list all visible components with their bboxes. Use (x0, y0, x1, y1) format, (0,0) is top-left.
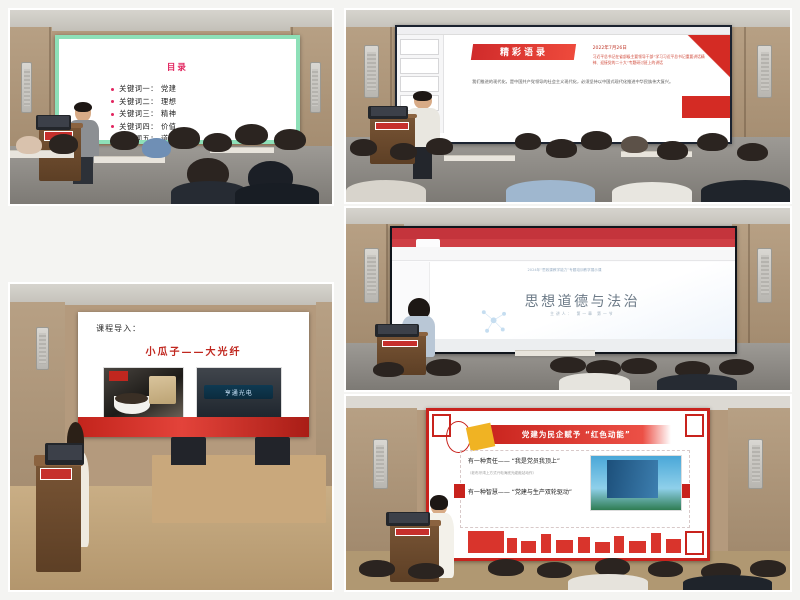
slide-date: 2022年7月26日 (593, 45, 627, 51)
classroom-scene: 党建为民企赋予 “红色动能” 有一种责任—— “我是党员我顶上” （老布牙湾上方… (346, 396, 790, 590)
red-wave-decoration (78, 417, 310, 437)
ceiling (10, 10, 332, 31)
slide-subtitle: 习近平总书记在省部级主要领导干部“学习习近平总书记重要讲话精神、迎接党的二十大”… (593, 54, 708, 66)
audience-head (546, 139, 577, 158)
slide-title-ribbon: 精彩语录 (471, 44, 576, 60)
slide-body-text: 我们推进的现代化，是中国共产党领导的社会主义现代化，必须坚持以中国式现代化推进中… (472, 78, 684, 85)
slide-lead-in-text: 课程导入： (96, 323, 141, 334)
audience-shoulders (657, 374, 737, 390)
lecture-photo-toc: 目录 关键词一： 党建 关键词二： 理想 关键词三： 精神 (8, 8, 334, 206)
audience-head (274, 129, 306, 150)
slide-thumbnail[interactable] (400, 58, 438, 74)
classroom-scene: 精彩语录 2022年7月26日 习近平总书记在省部级主要领导干部“学习习近平总书… (346, 10, 790, 202)
classroom-scene: 2024年“思政课教学能力”专题培训教学展示课 思想道德与法治 主讲人： 第一章… (346, 208, 790, 390)
wall-speaker-icon (757, 45, 772, 99)
podium-name-plate (395, 528, 430, 536)
paper-bag-graphic (149, 376, 176, 404)
audience-head (49, 134, 78, 154)
wps-active-tab[interactable] (416, 239, 440, 246)
audience-head (203, 133, 232, 153)
laptop (386, 512, 430, 526)
audience (346, 118, 790, 202)
slide-title: 党建为民企赋予 “红色动能” (522, 429, 631, 440)
audience-head (16, 136, 42, 154)
corner-pattern-icon (685, 414, 704, 438)
presenter-hair (74, 102, 92, 113)
slide-party-building: 党建为民企赋予 “红色动能” 有一种责任—— “我是党员我顶上” （老布牙湾上方… (429, 411, 707, 558)
audience-shoulders (568, 574, 648, 590)
lecture-photo-ideology: 2024年“思政课教学能力”专题培训教学展示课 思想道德与法治 主讲人： 第一章… (344, 206, 792, 392)
audience-head (373, 362, 404, 377)
audience-head (621, 358, 657, 375)
audience-head (550, 357, 586, 374)
audience-head (581, 131, 612, 150)
wall-speaker-icon (748, 439, 763, 489)
bullet-text: 关键词二： 理想 (119, 97, 176, 107)
audience-head (110, 131, 139, 151)
bullet-dot-icon (111, 88, 114, 91)
presenter-hair (430, 495, 448, 510)
slide-ideology: 2024年“思政课教学能力”专题培训教学展示课 思想道德与法治 主讲人： 第一章… (430, 262, 735, 340)
list-item: 关键词一： 党建 (111, 84, 296, 94)
audience-head (235, 124, 267, 145)
lecture-photo-course-intro: 课程导入： 小瓜子——大光纤 亨通光电 (8, 282, 334, 592)
slide-header: 2024年“思政课教学能力”专题培训教学展示课 (528, 268, 602, 273)
presenter-hair (413, 91, 432, 101)
audience-head (648, 561, 684, 577)
slide-course-intro: 课程导入： 小瓜子——大光纤 亨通光电 (78, 312, 310, 437)
list-item: 关键词二： 理想 (111, 97, 296, 107)
audience-shoulders (612, 182, 692, 202)
audience-head (515, 133, 542, 150)
slide-image-factory-sign: 亨通光电 (196, 367, 282, 420)
audience-head (142, 138, 171, 158)
wall-speaker-icon (373, 439, 388, 489)
wall-speaker-icon (21, 62, 32, 112)
slide-image-seeds (103, 367, 184, 420)
app-toolbar[interactable] (397, 27, 730, 35)
audience-head (350, 139, 377, 156)
slide-bullet-1-note: （老布牙湾上方式兴电海底光缆敲站动作） (468, 471, 536, 476)
audience-shoulders (559, 373, 630, 390)
audience-shoulders (683, 575, 772, 590)
classroom-scene: 课程导入： 小瓜子——大光纤 亨通光电 (10, 284, 332, 590)
audience-shoulders (235, 183, 319, 204)
audience-head (359, 560, 395, 577)
wps-office-window: 2024年“思政课教学能力”专题培训教学展示课 思想道德与法治 主讲人： 第一章… (392, 228, 734, 351)
chair (171, 437, 206, 465)
building-graphic (607, 460, 657, 498)
slide-bullet-2: 有一种智慧—— “党建与生产双轮驱动” (468, 487, 572, 496)
wall-speaker-icon (364, 45, 379, 99)
audience-head (408, 563, 444, 579)
audience-head (488, 559, 524, 576)
audience-head (719, 359, 755, 376)
desk (515, 350, 595, 356)
classroom-scene: 目录 关键词一： 党建 关键词二： 理想 关键词三： 精神 (10, 10, 332, 204)
wall-speaker-icon (36, 327, 49, 370)
brand-tag-icon (109, 371, 128, 381)
projection-screen: 课程导入： 小瓜子——大光纤 亨通光电 (78, 312, 310, 437)
wall-speaker-icon (310, 62, 321, 112)
audience-shoulders (346, 180, 426, 202)
audience-head (537, 562, 573, 578)
audience (346, 547, 790, 590)
audience-shoulders (506, 180, 595, 202)
red-square-bullet-icon (454, 484, 465, 497)
photo-collage: 目录 关键词一： 党建 关键词二： 理想 关键词三： 精神 (0, 0, 800, 600)
red-block-decoration (682, 96, 731, 118)
audience-head (426, 138, 453, 155)
audience-head (390, 143, 417, 160)
audience-head (426, 359, 462, 376)
audience (346, 346, 790, 390)
molecule-graphic-icon (454, 304, 533, 337)
audience-head (697, 133, 728, 152)
projection-screen: 党建为民企赋予 “红色动能” 有一种责任—— “我是党员我顶上” （老布牙湾上方… (426, 408, 710, 561)
laptop (375, 324, 419, 337)
wps-tab-bar[interactable] (392, 239, 734, 246)
company-signboard: 亨通光电 (204, 385, 273, 399)
slide-title: 目录 (59, 61, 296, 73)
audience-shoulders (701, 180, 790, 202)
audience-head (168, 127, 200, 148)
slide-title-banner: 党建为民企赋予 “红色动能” (482, 425, 671, 444)
slide-photo-building (590, 455, 682, 511)
wall-speaker-icon (757, 248, 772, 303)
audience (10, 115, 332, 204)
slide-thumbnail[interactable] (400, 39, 438, 55)
audience-head (621, 136, 648, 153)
laptop (45, 443, 84, 464)
audience-head (750, 560, 786, 577)
slide-bullet-1: 有一种责任—— “我是党员我顶上” (468, 456, 560, 465)
conference-table (152, 455, 326, 522)
wps-toolbar[interactable] (392, 247, 734, 262)
podium (36, 455, 81, 571)
company-name: 亨通光电 (225, 388, 253, 397)
chair (255, 437, 290, 465)
lecture-photo-party-building: 党建为民企赋予 “红色动能” 有一种责任—— “我是党员我顶上” （老布牙湾上方… (344, 394, 792, 592)
desk (444, 155, 515, 161)
lecture-photo-quotes: 精彩语录 2022年7月26日 习近平总书记在省部级主要领导干部“学习习近平总书… (344, 8, 792, 204)
bullet-dot-icon (111, 100, 114, 103)
bullet-text: 关键词一： 党建 (119, 84, 176, 94)
audience-head (657, 141, 688, 160)
party-flag-icon (466, 423, 495, 451)
projection-screen: 2024年“思政课教学能力”专题培训教学展示课 思想道德与法治 主讲人： 第一章… (390, 226, 736, 353)
slide-title: 小瓜子——大光纤 (78, 343, 310, 358)
wps-title-bar[interactable] (392, 228, 734, 239)
podium-name-plate (40, 468, 72, 480)
audience-head (737, 143, 768, 162)
ceiling (346, 208, 790, 228)
slide-title: 精彩语录 (500, 46, 548, 59)
wall-speaker-icon (364, 248, 379, 303)
slide-thumbnail[interactable] (400, 76, 438, 92)
